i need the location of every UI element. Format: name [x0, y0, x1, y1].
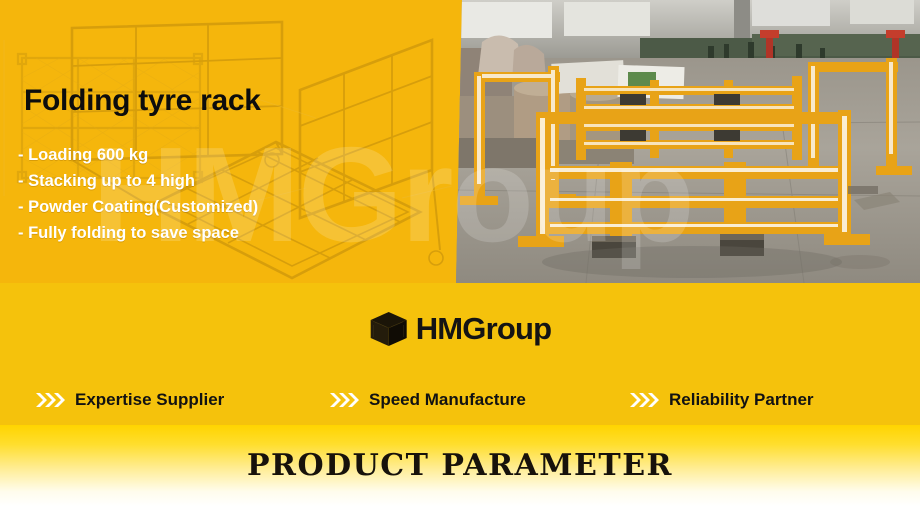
feature-label: Speed Manufacture: [369, 390, 526, 410]
brand-logo: HMGroup: [369, 309, 552, 349]
cube-box-icon: [369, 309, 409, 349]
feature-expertise-supplier: Expertise Supplier: [36, 390, 224, 410]
feature-bullet-list: - Loading 600 kg - Stacking up to 4 high…: [18, 142, 258, 246]
page-title: Folding tyre rack: [24, 84, 261, 118]
list-item: - Fully folding to save space: [18, 220, 258, 246]
list-item: - Powder Coating(Customized): [18, 194, 258, 220]
feature-label: Reliability Partner: [669, 390, 814, 410]
product-banner: Folding tyre rack - Loading 600 kg - Sta…: [0, 0, 920, 506]
triple-chevron-icon: [36, 392, 66, 408]
feature-strip: Expertise Supplier Speed Manufacture Rel…: [0, 375, 920, 425]
feature-label: Expertise Supplier: [75, 390, 224, 410]
triple-chevron-icon: [330, 392, 360, 408]
logo-band: HMGroup: [0, 283, 920, 375]
warehouse-stacked-racks-photo: [452, 0, 920, 283]
section-title: Product Parameter: [0, 448, 920, 483]
hero-panel: Folding tyre rack - Loading 600 kg - Sta…: [0, 0, 920, 283]
feature-reliability-partner: Reliability Partner: [630, 390, 814, 410]
list-item: - Loading 600 kg: [18, 142, 258, 168]
brand-logo-text: HMGroup: [416, 309, 552, 349]
feature-speed-manufacture: Speed Manufacture: [330, 390, 526, 410]
list-item: - Stacking up to 4 high: [18, 168, 258, 194]
triple-chevron-icon: [630, 392, 660, 408]
